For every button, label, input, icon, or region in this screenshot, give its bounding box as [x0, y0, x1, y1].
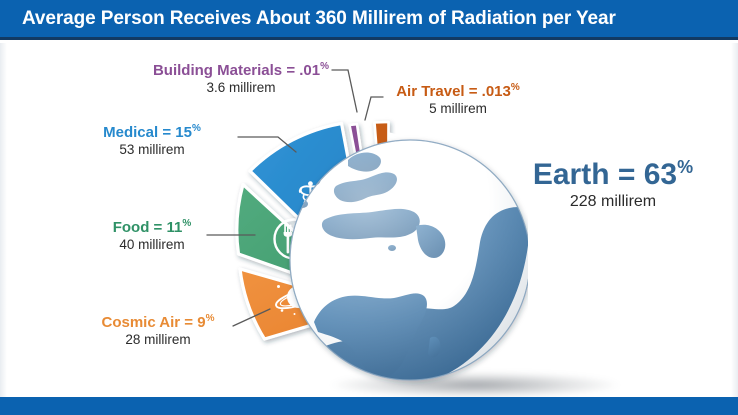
globe-icon[interactable]: [228, 108, 528, 400]
infographic-canvas: Average Person Receives About 360 Millir…: [0, 0, 738, 415]
page-title: Average Person Receives About 360 Millir…: [22, 8, 616, 30]
callout-building-materials-title: Building Materials = .01%: [132, 62, 350, 79]
callout-building-materials-amount: 3.6 millirem: [132, 80, 350, 96]
pie-chart: [228, 108, 528, 400]
callout-air-travel-title: Air Travel = .013%: [378, 83, 538, 100]
callout-air-travel: Air Travel = .013% 5 millirem: [378, 83, 538, 116]
callout-earth: Earth = 63% 228 millirem: [506, 158, 720, 211]
right-edge-gradient: [731, 43, 738, 397]
callout-cosmic-air-amount: 28 millirem: [72, 332, 244, 348]
callout-food-title: Food = 11%: [72, 219, 232, 236]
callout-food: Food = 11% 40 millirem: [72, 219, 232, 252]
callout-cosmic-air-title: Cosmic Air = 9%: [72, 314, 244, 331]
callout-cosmic-air: Cosmic Air = 9% 28 millirem: [72, 314, 244, 347]
callout-earth-title: Earth = 63%: [506, 158, 720, 190]
callout-building-materials: Building Materials = .01% 3.6 millirem: [132, 62, 350, 95]
left-edge-gradient: [0, 43, 7, 397]
callout-medical-amount: 53 millirem: [72, 142, 232, 158]
callout-medical: Medical = 15% 53 millirem: [72, 124, 232, 157]
callout-food-amount: 40 millirem: [72, 237, 232, 253]
callout-earth-amount: 228 millirem: [506, 193, 720, 211]
footer-bar: [0, 397, 738, 415]
callout-medical-title: Medical = 15%: [72, 124, 232, 141]
callout-air-travel-amount: 5 millirem: [378, 101, 538, 117]
